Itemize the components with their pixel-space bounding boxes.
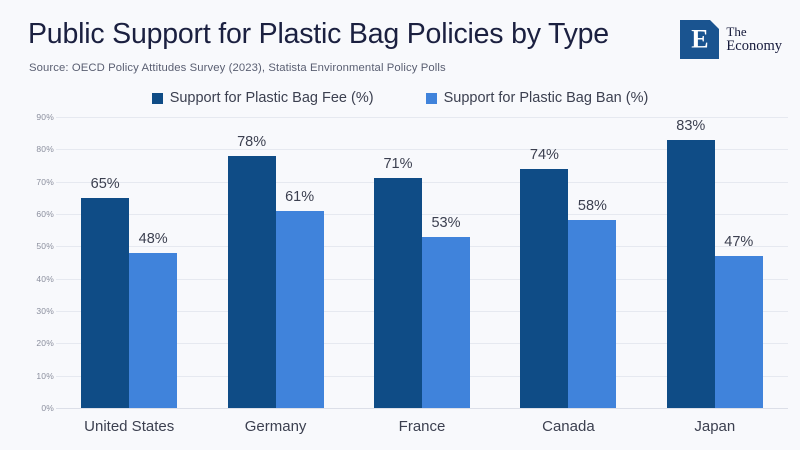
legend-item-0[interactable]: Support for Plastic Bag Fee (%) [152, 90, 374, 106]
bar-value-label: 83% [676, 117, 705, 135]
x-axis-tick-label: Canada [542, 417, 595, 437]
gridline [56, 408, 788, 409]
page-title: Public Support for Plastic Bag Policies … [28, 17, 609, 51]
brand-logo: E The Economy [680, 20, 782, 59]
legend-item-1[interactable]: Support for Plastic Bag Ban (%) [426, 90, 649, 106]
brand-mark-letter: E [680, 26, 719, 52]
brand-wordmark: The Economy [726, 25, 782, 53]
legend-label: Support for Plastic Bag Fee (%) [170, 90, 374, 106]
bar[interactable] [374, 178, 422, 408]
bar-group-3: 74%58% [520, 117, 616, 408]
y-axis-tick-label: 70% [36, 177, 54, 187]
bar-value-label: 48% [139, 230, 168, 248]
x-axis-tick-label: United States [84, 417, 174, 437]
y-axis-tick-label: 90% [36, 112, 54, 122]
bar-group-4: 83%47% [667, 117, 763, 408]
legend-swatch-icon [426, 93, 437, 104]
y-axis-tick-label: 60% [36, 209, 54, 219]
bar[interactable] [715, 256, 763, 408]
x-axis-tick-label: Japan [694, 417, 735, 437]
y-axis-tick-label: 50% [36, 241, 54, 251]
bar-group-0: 65%48% [81, 117, 177, 408]
bar[interactable] [568, 220, 616, 408]
y-axis-tick-label: 10% [36, 371, 54, 381]
y-axis-tick-label: 80% [36, 144, 54, 154]
chart-header: Public Support for Plastic Bag Policies … [0, 0, 800, 86]
bar-value-label: 65% [91, 175, 120, 193]
logo-fold-corner-icon [710, 20, 719, 29]
bar[interactable] [276, 211, 324, 408]
bar[interactable] [81, 198, 129, 408]
legend-swatch-icon [152, 93, 163, 104]
chart-source-note: Source: OECD Policy Attitudes Survey (20… [29, 61, 446, 75]
bar-value-label: 74% [530, 146, 559, 164]
bar[interactable] [129, 253, 177, 408]
bar[interactable] [228, 156, 276, 408]
bar[interactable] [520, 169, 568, 408]
bar[interactable] [422, 237, 470, 408]
y-axis-tick-label: 0% [41, 403, 54, 413]
bar-value-label: 78% [237, 133, 266, 151]
legend-label: Support for Plastic Bag Ban (%) [444, 90, 649, 106]
bar-group-1: 78%61% [228, 117, 324, 408]
bar[interactable] [667, 140, 715, 408]
economy-logo-icon: E [680, 20, 719, 59]
y-axis-tick-label: 30% [36, 306, 54, 316]
x-axis-tick-label: Germany [245, 417, 307, 437]
bar-value-label: 71% [383, 155, 412, 173]
bars-layer: 65%48%78%61%71%53%74%58%83%47% [56, 117, 788, 408]
x-axis-tick-label: France [399, 417, 446, 437]
bar-value-label: 53% [431, 214, 460, 232]
plot-area: 65%48%78%61%71%53%74%58%83%47% [56, 117, 788, 408]
chart-plot-wrapper: 0%10%20%30%40%50%60%70%80%90% 65%48%78%6… [0, 112, 800, 450]
y-axis-tick-label: 40% [36, 274, 54, 284]
bar-value-label: 58% [578, 197, 607, 215]
brand-word-economy: Economy [726, 39, 782, 54]
y-axis: 0%10%20%30%40%50%60%70%80%90% [20, 112, 54, 408]
chart-legend: Support for Plastic Bag Fee (%)Support f… [0, 90, 800, 106]
bar-group-2: 71%53% [374, 117, 470, 408]
chart-page: Public Support for Plastic Bag Policies … [0, 0, 800, 450]
bar-value-label: 61% [285, 188, 314, 206]
y-axis-tick-label: 20% [36, 338, 54, 348]
x-axis: United StatesGermanyFranceCanadaJapan [56, 417, 788, 443]
bar-value-label: 47% [724, 233, 753, 251]
brand-word-the: The [726, 25, 782, 38]
